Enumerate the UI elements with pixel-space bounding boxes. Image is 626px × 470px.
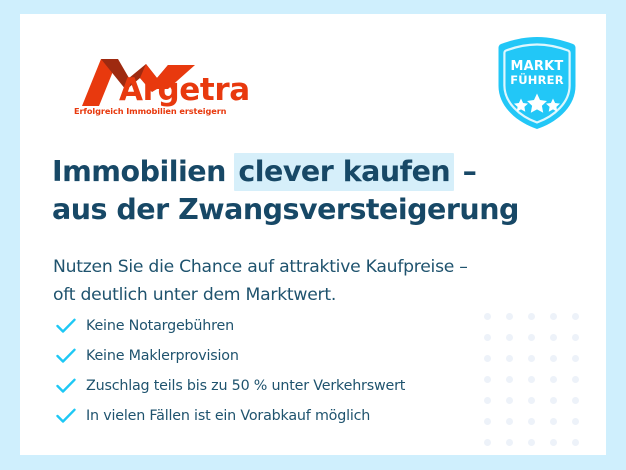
promo-banner: Argetra Erfolgreich Immobilien ersteiger… (0, 0, 626, 470)
headline: Immobilien clever kaufen – aus der Zwang… (52, 153, 572, 229)
headline-line-1: Immobilien clever kaufen – (52, 153, 572, 191)
market-leader-badge: MARKT FÜHRER (488, 34, 586, 132)
check-icon (56, 405, 86, 427)
headline-highlight: clever kaufen (234, 153, 454, 191)
subheadline-line-2: oft deutlich unter dem Marktwert. (53, 281, 583, 309)
list-item-label: Zuschlag teils bis zu 50 % unter Verkehr… (86, 378, 405, 394)
check-icon (56, 345, 86, 367)
check-icon (56, 315, 86, 337)
list-item: Keine Maklerprovision (56, 341, 526, 371)
subheadline-line-1: Nutzen Sie die Chance auf attraktive Kau… (53, 253, 583, 281)
shield-badge-icon (488, 34, 586, 132)
headline-line-2: aus der Zwangsversteigerung (52, 191, 572, 229)
list-item-label: In vielen Fällen ist ein Vorabkauf mögli… (86, 408, 370, 424)
logo-wordmark: Argetra (119, 75, 250, 106)
argetra-logo[interactable]: Argetra Erfolgreich Immobilien ersteiger… (73, 56, 263, 122)
list-item: Keine Notargebühren (56, 311, 526, 341)
benefit-list: Keine Notargebühren Keine Maklerprovisio… (56, 311, 526, 431)
list-item: In vielen Fällen ist ein Vorabkauf mögli… (56, 401, 526, 431)
list-item-label: Keine Notargebühren (86, 318, 234, 334)
check-icon (56, 375, 86, 397)
list-item-label: Keine Maklerprovision (86, 348, 239, 364)
headline-line-1-suffix: – (453, 155, 476, 188)
headline-line-1-prefix: Immobilien (52, 155, 235, 188)
subheadline: Nutzen Sie die Chance auf attraktive Kau… (53, 253, 583, 309)
banner-card: Argetra Erfolgreich Immobilien ersteiger… (20, 14, 606, 455)
logo-tagline: Erfolgreich Immobilien ersteigern (74, 106, 226, 116)
list-item: Zuschlag teils bis zu 50 % unter Verkehr… (56, 371, 526, 401)
